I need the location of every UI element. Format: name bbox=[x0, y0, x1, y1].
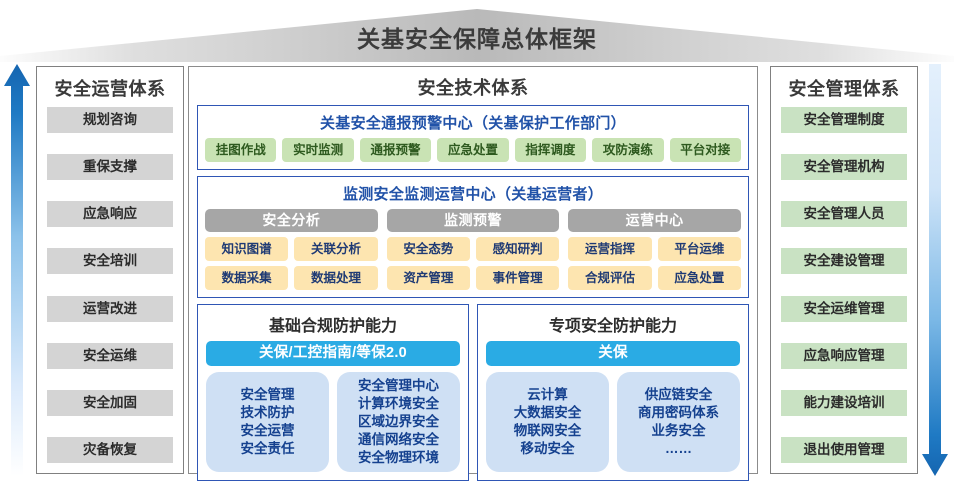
sidebar-item-planning[interactable]: 规划咨询 bbox=[47, 107, 173, 133]
left-panel-list: 规划咨询 重保支撑 应急响应 安全培训 运营改进 安全运维 安全加固 灾备恢复 bbox=[47, 107, 173, 465]
chip-data-processing[interactable]: 数据处理 bbox=[294, 266, 377, 290]
list-item: 区域边界安全 bbox=[358, 413, 439, 431]
group-head-operations-center: 运营中心 bbox=[568, 209, 741, 232]
list-item: 计算环境安全 bbox=[358, 395, 439, 413]
list-item: 技术防护 bbox=[241, 404, 295, 422]
sidebar-item-emergency[interactable]: 应急响应 bbox=[47, 201, 173, 227]
chip-event-management[interactable]: 事件管理 bbox=[476, 266, 559, 290]
group-head-security-analysis: 安全分析 bbox=[205, 209, 378, 232]
chip-compliance-assess[interactable]: 合规评估 bbox=[568, 266, 651, 290]
group-grid-operations-center: 运营指挥 平台运维 合规评估 应急处置 bbox=[568, 237, 741, 290]
sidebar-item-capability-training[interactable]: 能力建设培训 bbox=[781, 390, 907, 416]
sidebar-item-dr-recovery[interactable]: 灾备恢复 bbox=[47, 437, 173, 463]
baseline-left-list: 安全管理 技术防护 安全运营 安全责任 bbox=[206, 372, 329, 472]
right-panel-list: 安全管理制度 安全管理机构 安全管理人员 安全建设管理 安全运维管理 应急响应管… bbox=[781, 107, 907, 465]
list-item: 安全物理环境 bbox=[358, 449, 439, 467]
sidebar-item-improvement[interactable]: 运营改进 bbox=[47, 296, 173, 322]
baseline-compliance-title: 基础合规防护能力 bbox=[206, 312, 460, 336]
group-row: 知识图谱 关联分析 bbox=[205, 237, 378, 261]
baseline-sub-columns: 安全管理 技术防护 安全运营 安全责任 安全管理中心 计算环境安全 区域边界安全… bbox=[206, 372, 460, 472]
chip-asset-management[interactable]: 资产管理 bbox=[387, 266, 470, 290]
list-item: 安全责任 bbox=[241, 440, 295, 458]
chip-map-operations[interactable]: 挂图作战 bbox=[205, 138, 276, 162]
list-item: 业务安全 bbox=[652, 422, 706, 440]
left-panel-title: 安全运营体系 bbox=[47, 75, 173, 101]
special-sub-columns: 云计算 大数据安全 物联网安全 移动安全 供应链安全 商用密码体系 业务安全 …… bbox=[486, 372, 740, 472]
right-panel-title: 安全管理体系 bbox=[781, 75, 907, 101]
down-arrow-icon bbox=[922, 64, 948, 476]
chip-alert-notify[interactable]: 通报预警 bbox=[360, 138, 431, 162]
group-grid-monitoring-alert: 安全态势 感知研判 资产管理 事件管理 bbox=[387, 237, 560, 290]
sidebar-item-major-support[interactable]: 重保支撑 bbox=[47, 154, 173, 180]
chip-correlation[interactable]: 关联分析 bbox=[294, 237, 377, 261]
alert-center-chip-row: 挂图作战 实时监测 通报预警 应急处置 指挥调度 攻防演练 平台对接 bbox=[205, 138, 741, 162]
list-item: 移动安全 bbox=[521, 440, 575, 458]
soc-groups: 安全分析 知识图谱 关联分析 数据采集 数据处理 监测预警 bbox=[205, 209, 741, 290]
center-panel-title: 安全技术体系 bbox=[197, 74, 749, 100]
sidebar-item-mgmt-org[interactable]: 安全管理机构 bbox=[781, 154, 907, 180]
group-security-analysis: 安全分析 知识图谱 关联分析 数据采集 数据处理 bbox=[205, 209, 378, 290]
list-item: 安全运营 bbox=[241, 422, 295, 440]
special-protection-box: 专项安全防护能力 关保 云计算 大数据安全 物联网安全 移动安全 供应链安全 商… bbox=[477, 304, 749, 481]
baseline-compliance-box: 基础合规防护能力 关保/工控指南/等保2.0 安全管理 技术防护 安全运营 安全… bbox=[197, 304, 469, 481]
group-row: 安全态势 感知研判 bbox=[387, 237, 560, 261]
chip-emergency-handle[interactable]: 应急处置 bbox=[437, 138, 508, 162]
chip-ops-command[interactable]: 运营指挥 bbox=[568, 237, 651, 261]
alert-center-title: 关基安全通报预警中心（关基保护工作部门） bbox=[205, 112, 741, 133]
chip-command-dispatch[interactable]: 指挥调度 bbox=[515, 138, 586, 162]
chip-security-posture[interactable]: 安全态势 bbox=[387, 237, 470, 261]
list-item: 大数据安全 bbox=[514, 404, 582, 422]
baseline-right-list: 安全管理中心 计算环境安全 区域边界安全 通信网络安全 安全物理环境 bbox=[337, 372, 460, 472]
chip-emergency-dispose[interactable]: 应急处置 bbox=[658, 266, 741, 290]
chip-platform-docking[interactable]: 平台对接 bbox=[670, 138, 741, 162]
list-item: 通信网络安全 bbox=[358, 431, 439, 449]
capability-row: 基础合规防护能力 关保/工控指南/等保2.0 安全管理 技术防护 安全运营 安全… bbox=[197, 304, 749, 481]
list-item: …… bbox=[665, 440, 692, 458]
list-item: 云计算 bbox=[527, 386, 568, 404]
sidebar-item-emergency-mgmt[interactable]: 应急响应管理 bbox=[781, 343, 907, 369]
chip-realtime-monitor[interactable]: 实时监测 bbox=[282, 138, 353, 162]
management-system-panel: 安全管理体系 安全管理制度 安全管理机构 安全管理人员 安全建设管理 安全运维管… bbox=[770, 66, 918, 474]
group-monitoring-alert: 监测预警 安全态势 感知研判 资产管理 事件管理 bbox=[387, 209, 560, 290]
group-row: 资产管理 事件管理 bbox=[387, 266, 560, 290]
special-left-list: 云计算 大数据安全 物联网安全 移动安全 bbox=[486, 372, 609, 472]
special-right-list: 供应链安全 商用密码体系 业务安全 …… bbox=[617, 372, 740, 472]
chip-data-collection[interactable]: 数据采集 bbox=[205, 266, 288, 290]
special-protection-title: 专项安全防护能力 bbox=[486, 312, 740, 336]
soc-center-title: 监测安全监测运营中心（关基运营者） bbox=[205, 183, 741, 204]
soc-center-box: 监测安全监测运营中心（关基运营者） 安全分析 知识图谱 关联分析 数据采集 数据… bbox=[197, 176, 749, 298]
list-item: 安全管理中心 bbox=[358, 377, 439, 395]
page-title: 关基安全保障总体框架 bbox=[0, 20, 954, 54]
list-item: 物联网安全 bbox=[514, 422, 582, 440]
special-standards-bar[interactable]: 关保 bbox=[486, 341, 740, 366]
sidebar-item-hardening[interactable]: 安全加固 bbox=[47, 390, 173, 416]
group-head-monitoring-alert: 监测预警 bbox=[387, 209, 560, 232]
list-item: 商用密码体系 bbox=[638, 404, 719, 422]
technology-system-panel: 安全技术体系 关基安全通报预警中心（关基保护工作部门） 挂图作战 实时监测 通报… bbox=[188, 66, 758, 474]
sidebar-item-ops-mgmt[interactable]: 安全运维管理 bbox=[781, 296, 907, 322]
alert-center-box: 关基安全通报预警中心（关基保护工作部门） 挂图作战 实时监测 通报预警 应急处置… bbox=[197, 105, 749, 170]
chip-platform-ops[interactable]: 平台运维 bbox=[658, 237, 741, 261]
chip-knowledge-graph[interactable]: 知识图谱 bbox=[205, 237, 288, 261]
chip-attack-drill[interactable]: 攻防演练 bbox=[592, 138, 663, 162]
group-grid-security-analysis: 知识图谱 关联分析 数据采集 数据处理 bbox=[205, 237, 378, 290]
chip-perception-judge[interactable]: 感知研判 bbox=[476, 237, 559, 261]
group-row: 运营指挥 平台运维 bbox=[568, 237, 741, 261]
list-item: 供应链安全 bbox=[645, 386, 713, 404]
group-row: 合规评估 应急处置 bbox=[568, 266, 741, 290]
baseline-standards-bar[interactable]: 关保/工控指南/等保2.0 bbox=[206, 341, 460, 366]
up-arrow-icon bbox=[4, 64, 30, 476]
sidebar-item-training[interactable]: 安全培训 bbox=[47, 248, 173, 274]
operations-system-panel: 安全运营体系 规划咨询 重保支撑 应急响应 安全培训 运营改进 安全运维 安全加… bbox=[36, 66, 184, 474]
group-row: 数据采集 数据处理 bbox=[205, 266, 378, 290]
sidebar-item-exit-mgmt[interactable]: 退出使用管理 bbox=[781, 437, 907, 463]
sidebar-item-ops-maint[interactable]: 安全运维 bbox=[47, 343, 173, 369]
framework-diagram: 关基安全保障总体框架 bbox=[0, 0, 954, 483]
sidebar-item-mgmt-policy[interactable]: 安全管理制度 bbox=[781, 107, 907, 133]
sidebar-item-mgmt-personnel[interactable]: 安全管理人员 bbox=[781, 201, 907, 227]
title-banner: 关基安全保障总体框架 bbox=[0, 6, 954, 62]
sidebar-item-build-mgmt[interactable]: 安全建设管理 bbox=[781, 248, 907, 274]
group-operations-center: 运营中心 运营指挥 平台运维 合规评估 应急处置 bbox=[568, 209, 741, 290]
list-item: 安全管理 bbox=[241, 386, 295, 404]
